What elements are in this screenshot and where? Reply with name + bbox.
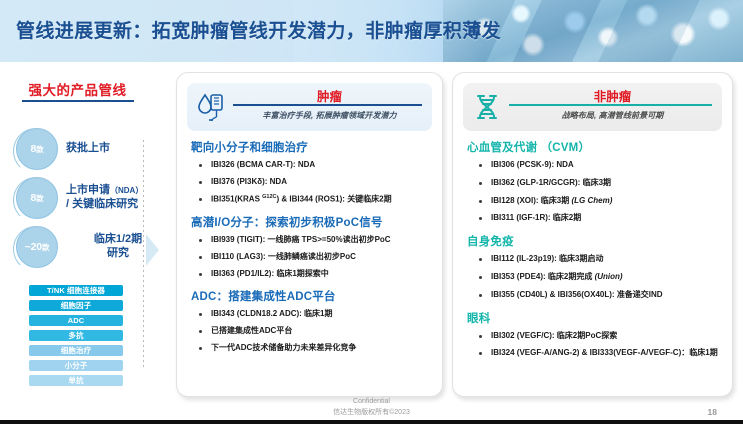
sidebar-title-rule	[22, 100, 134, 102]
sidebar: 强大的产品管线 8款 获批上市 8款 上市申请（NDA） / 关键临床研究 ~2…	[0, 62, 172, 424]
tag-cytokine[interactable]: 细胞因子	[28, 299, 124, 312]
list-item: IBI306 (PCSK-9): NDA	[475, 160, 722, 171]
dna-helix-icon	[471, 91, 505, 123]
footer-copyright: 信达生物版权所有©2023	[0, 408, 743, 419]
stat-row-approved: 8款 获批上市	[10, 128, 170, 170]
modality-tag-list: T/NK 细胞连接器 细胞因子 ADC 多抗 细胞治疗 小分子 单抗	[28, 284, 124, 389]
stat-count: 8款	[31, 143, 44, 155]
tag-monoclonal-antibody[interactable]: 单抗	[28, 374, 124, 387]
tag-adc[interactable]: ADC	[28, 314, 124, 327]
section-title-cvm: 心血管及代谢 （CVM）	[467, 139, 722, 155]
slide-header: 管线进展更新：拓宽肿瘤管线开发潜力，非肿瘤厚积薄发	[0, 0, 743, 62]
section-title-ophthalmology: 眼科	[467, 310, 722, 326]
section-items-cvm: IBI306 (PCSK-9): NDA IBI362 (GLP-1R/GCGR…	[475, 160, 722, 224]
tag-multispecific[interactable]: 多抗	[28, 329, 124, 342]
section-items-autoimmune: IBI112 (IL-23p19): 临床3期启动 IBI353 (PDE4):…	[475, 254, 722, 300]
panel-nontumor-body: 心血管及代谢 （CVM） IBI306 (PCSK-9): NDA IBI362…	[467, 139, 722, 388]
section-title-adc: ADC：搭建集成性ADC平台	[191, 288, 432, 304]
sidebar-divider	[143, 140, 144, 368]
panel-tumor-subtitle: 丰富治疗手段, 拓展肿瘤领域开发潜力	[233, 110, 426, 121]
stat-label-line1: 获批上市	[66, 142, 170, 156]
list-item: IBI355 (CD40L) & IBI356(OX40L): 准备递交IND	[475, 290, 722, 301]
section-title-targeted: 靶向小分子和细胞治疗	[191, 139, 432, 155]
section-title-autoimmune: 自身免疫	[467, 233, 722, 249]
stat-row-nda: 8款 上市申请（NDA） / 关键临床研究	[10, 177, 170, 219]
panel-tumor-body: 靶向小分子和细胞治疗 IBI326 (BCMA CAR-T): NDA IBI3…	[191, 139, 432, 388]
iv-drip-icon	[195, 91, 229, 123]
panel-tumor-title: 肿瘤	[233, 86, 426, 102]
list-item: IBI110 (LAG3): 一线肺鳞癌读出初步PoC	[195, 252, 432, 263]
footer-confidential: Confidential 信达生物版权所有©2023	[0, 397, 743, 418]
section-items-adc: IBI343 (CLDN18.2 ADC): 临床1期 已搭建集成性ADC平台 …	[195, 309, 432, 353]
page-title: 管线进展更新：拓宽肿瘤管线开发潜力，非肿瘤厚积薄发	[16, 16, 501, 43]
list-item: IBI353 (PDE4): 临床2期完成 (Union)	[475, 272, 722, 283]
list-item: IBI362 (GLP-1R/GCGR): 临床3期	[475, 178, 722, 189]
list-item: IBI363 (PD1/IL2): 临床1期探索中	[195, 269, 432, 280]
list-item: IBI302 (VEGF/C): 临床2期PoC探索	[475, 331, 722, 342]
panel-nontumor-title: 非肿瘤	[509, 86, 716, 102]
panel-nontumor-subtitle: 战略布局, 高潜管线前景可期	[509, 110, 716, 121]
arrow-pointer	[146, 234, 159, 266]
tag-tnk-cell-engager[interactable]: T/NK 细胞连接器	[28, 284, 124, 297]
section-title-io: 高潜I/O分子：探索初步积极PoC信号	[191, 214, 432, 230]
stat-circle: 8款	[16, 128, 58, 170]
tag-small-molecule[interactable]: 小分子	[28, 359, 124, 372]
stat-count: 8款	[31, 192, 44, 204]
panel-nontumor-header: 非肿瘤 战略布局, 高潜管线前景可期	[463, 83, 722, 131]
stat-circle: 8款	[16, 177, 58, 219]
list-item: IBI128 (XOI): 临床3期 (LG Chem)	[475, 196, 722, 207]
stat-label-line1: 上市申请（NDA）	[66, 184, 170, 198]
page-number: 18	[708, 407, 717, 417]
list-item: IBI939 (TIGIT): 一线肺癌 TPS>=50%读出初步PoC	[195, 235, 432, 246]
list-item: IBI351(KRAS G12C) & IBI344 (ROS1): 关键临床2…	[195, 194, 432, 205]
stat-label-line1: 临床1/2期	[94, 233, 142, 247]
section-items-io: IBI939 (TIGIT): 一线肺癌 TPS>=50%读出初步PoC IBI…	[195, 235, 432, 279]
panel-nontumor: 非肿瘤 战略布局, 高潜管线前景可期 心血管及代谢 （CVM） IBI306 (…	[452, 72, 733, 397]
section-items-targeted: IBI326 (BCMA CAR-T): NDA IBI376 (PI3Kδ):…	[195, 160, 432, 205]
list-item: 下一代ADC技术储备助力未来差异化竞争	[195, 343, 432, 354]
stat-label: 获批上市	[66, 128, 170, 170]
panel-nontumor-rule	[509, 104, 712, 106]
stat-count: ~20款	[25, 241, 50, 253]
slide-root: 管线进展更新：拓宽肿瘤管线开发潜力，非肿瘤厚积薄发 强大的产品管线 8款 获批上…	[0, 0, 743, 424]
tag-cell-therapy[interactable]: 细胞治疗	[28, 344, 124, 357]
list-item: IBI112 (IL-23p19): 临床3期启动	[475, 254, 722, 265]
stat-label-line2: / 关键临床研究	[66, 198, 170, 212]
sidebar-title: 强大的产品管线	[0, 79, 155, 99]
list-item: IBI324 (VEGF-A/ANG-2) & IBI333(VEGF-A/VE…	[475, 348, 722, 359]
stat-label: 上市申请（NDA） / 关键临床研究	[66, 177, 170, 219]
panel-tumor-rule	[233, 104, 422, 106]
panel-tumor-header: 肿瘤 丰富治疗手段, 拓展肿瘤领域开发潜力	[187, 83, 432, 131]
section-items-ophthalmology: IBI302 (VEGF/C): 临床2期PoC探索 IBI324 (VEGF-…	[475, 331, 722, 360]
bottom-bar	[0, 420, 743, 424]
list-item: IBI343 (CLDN18.2 ADC): 临床1期	[195, 309, 432, 320]
panel-tumor: 肿瘤 丰富治疗手段, 拓展肿瘤领域开发潜力 靶向小分子和细胞治疗 IBI326 …	[176, 72, 443, 397]
stat-label-line2: 研究	[107, 247, 129, 261]
list-item: IBI376 (PI3Kδ): NDA	[195, 177, 432, 188]
list-item: 已搭建集成性ADC平台	[195, 326, 432, 337]
stat-circle: ~20款	[16, 226, 58, 268]
list-item: IBI326 (BCMA CAR-T): NDA	[195, 160, 432, 171]
list-item: IBI311 (IGF-1R): 临床2期	[475, 213, 722, 224]
footer-confidential-label: Confidential	[0, 397, 743, 408]
